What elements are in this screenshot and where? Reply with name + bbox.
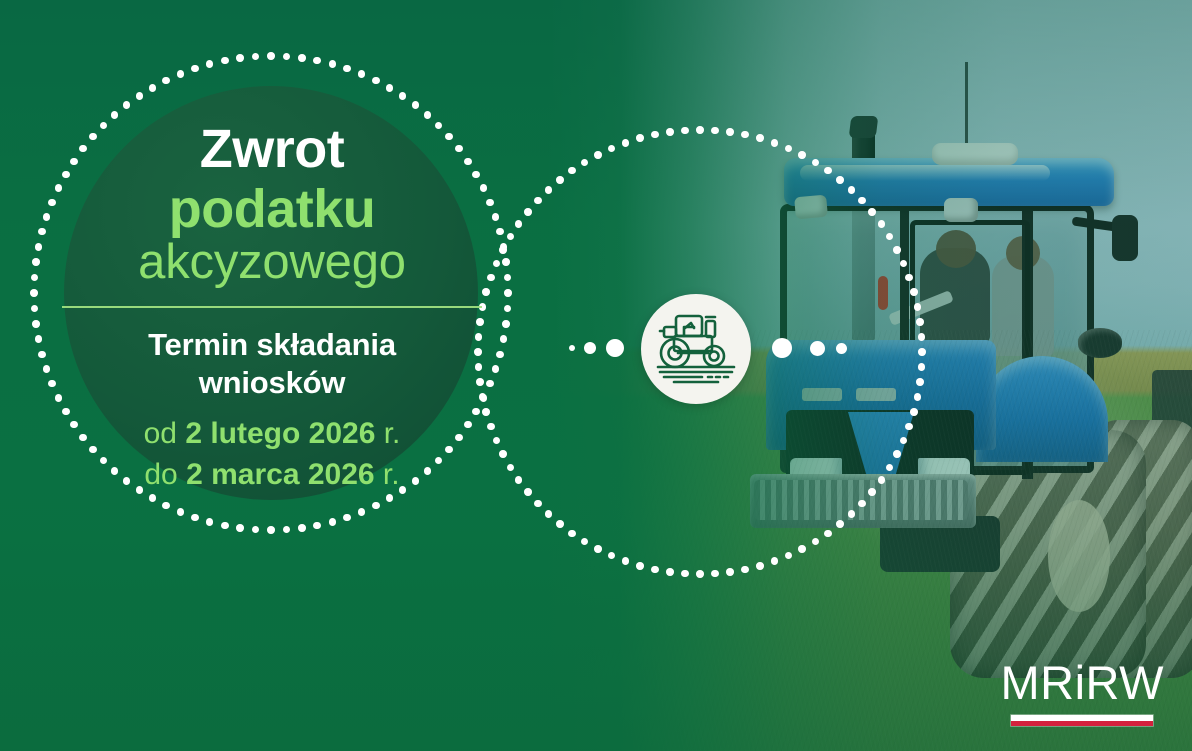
poster-canvas: Zwrot podatku akcyzowego Termin składani… xyxy=(0,0,1192,751)
date-to-suffix: r. xyxy=(375,458,400,491)
date-from-value: 2 lutego 2026 xyxy=(185,417,375,450)
divider-rule xyxy=(62,306,482,308)
date-from-prefix: od xyxy=(144,417,186,450)
flag-red-stripe xyxy=(1011,721,1153,727)
headline-line-2: podatku xyxy=(60,181,484,238)
tractor-badge xyxy=(641,294,751,404)
headline-line-3: akcyzowego xyxy=(60,236,484,290)
polish-flag-bar xyxy=(1010,714,1154,727)
ministry-logo: MRiRW xyxy=(1001,659,1165,727)
date-to-value: 2 marca 2026 xyxy=(186,458,375,491)
subheadline-line-1: Termin składania xyxy=(148,327,396,362)
date-from-suffix: r. xyxy=(375,417,400,450)
subheadline-line-2: wniosków xyxy=(199,365,346,400)
subheadline: Termin składania wniosków xyxy=(60,326,484,402)
headline-block: Zwrot podatku akcyzowego Termin składani… xyxy=(60,122,484,494)
date-to-row: do 2 marca 2026 r. xyxy=(60,455,484,494)
date-to-prefix: do xyxy=(144,458,186,491)
tractor-icon xyxy=(654,309,738,389)
date-from-row: od 2 lutego 2026 r. xyxy=(60,414,484,453)
logo-text: MRiRW xyxy=(1001,659,1165,706)
headline-line-1: Zwrot xyxy=(60,122,484,177)
